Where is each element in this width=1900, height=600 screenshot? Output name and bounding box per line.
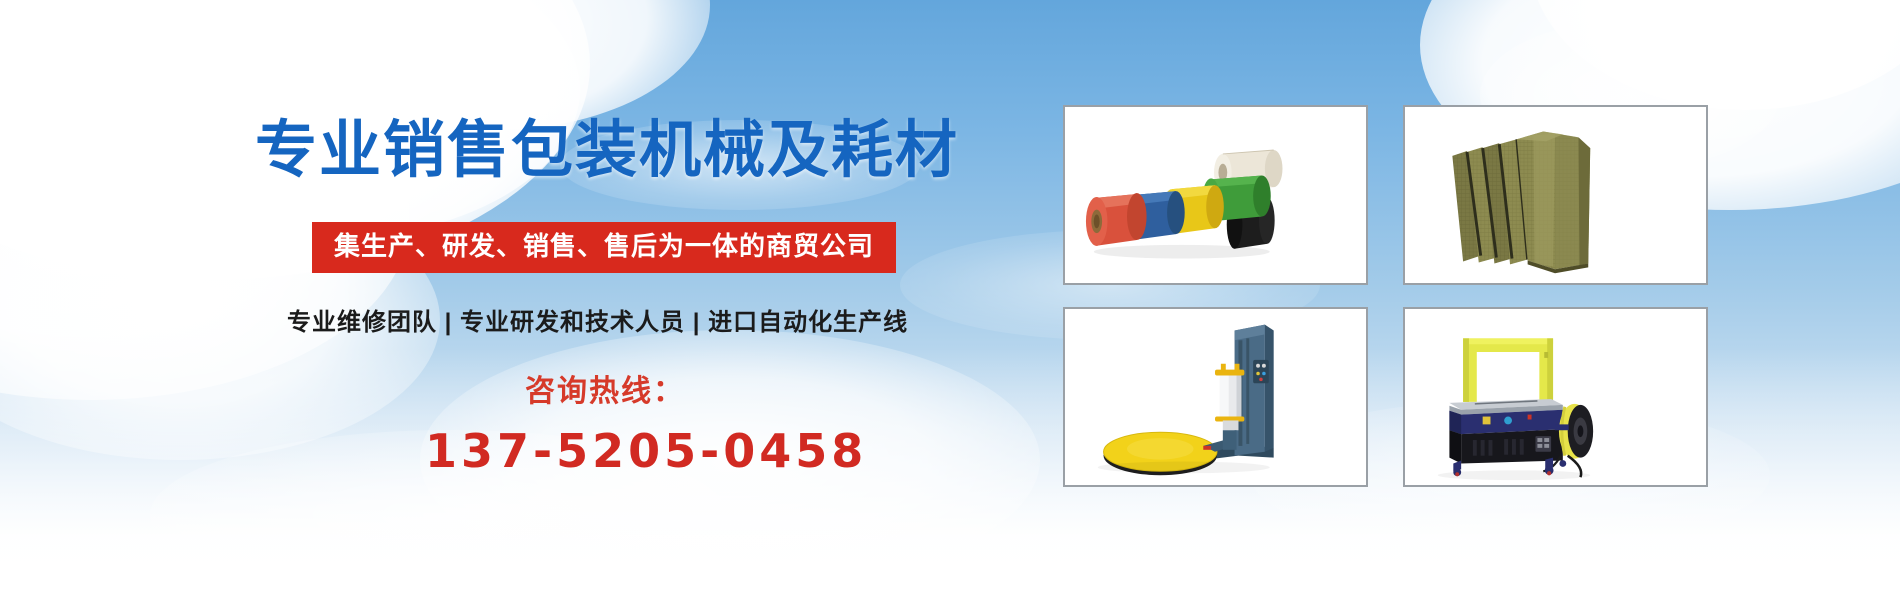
- product-card-strapping-rolls[interactable]: 彩色打包带卷: [1063, 105, 1368, 285]
- features-line: 专业维修团队 | 专业研发和技术人员 | 进口自动化生产线: [287, 302, 908, 337]
- tagline-text: 集生产、研发、销售、售后为一体的商贸公司: [334, 231, 874, 261]
- pallet-stretch-wrapper-icon: [1065, 309, 1366, 485]
- hotline-label: 咨询热线：: [525, 366, 685, 410]
- product-card-woven-sacks[interactable]: 编织袋: [1403, 105, 1708, 285]
- automatic-strapping-machine-icon: [1405, 309, 1706, 485]
- hotline-number[interactable]: 137-5205-0458: [425, 424, 867, 478]
- banner-copy: 专业销售包装机械及耗材 集生产、研发、销售、售后为一体的商贸公司 专业维修团队 …: [0, 0, 1040, 600]
- woven-sacks-icon: [1405, 107, 1706, 283]
- product-card-automatic-strapping-machine[interactable]: 全自动打包机: [1403, 307, 1708, 487]
- product-card-pallet-stretch-wrapper[interactable]: 自动缠绕机: [1063, 307, 1368, 487]
- promotional-banner: 专业销售包装机械及耗材 集生产、研发、销售、售后为一体的商贸公司 专业维修团队 …: [0, 0, 1900, 600]
- product-image-grid: 彩色打包带卷: [1063, 105, 1773, 495]
- banner-headline: 专业销售包装机械及耗材: [255, 120, 959, 182]
- strapping-rolls-icon: [1065, 107, 1366, 283]
- tagline-badge: 集生产、研发、销售、售后为一体的商贸公司: [312, 222, 896, 273]
